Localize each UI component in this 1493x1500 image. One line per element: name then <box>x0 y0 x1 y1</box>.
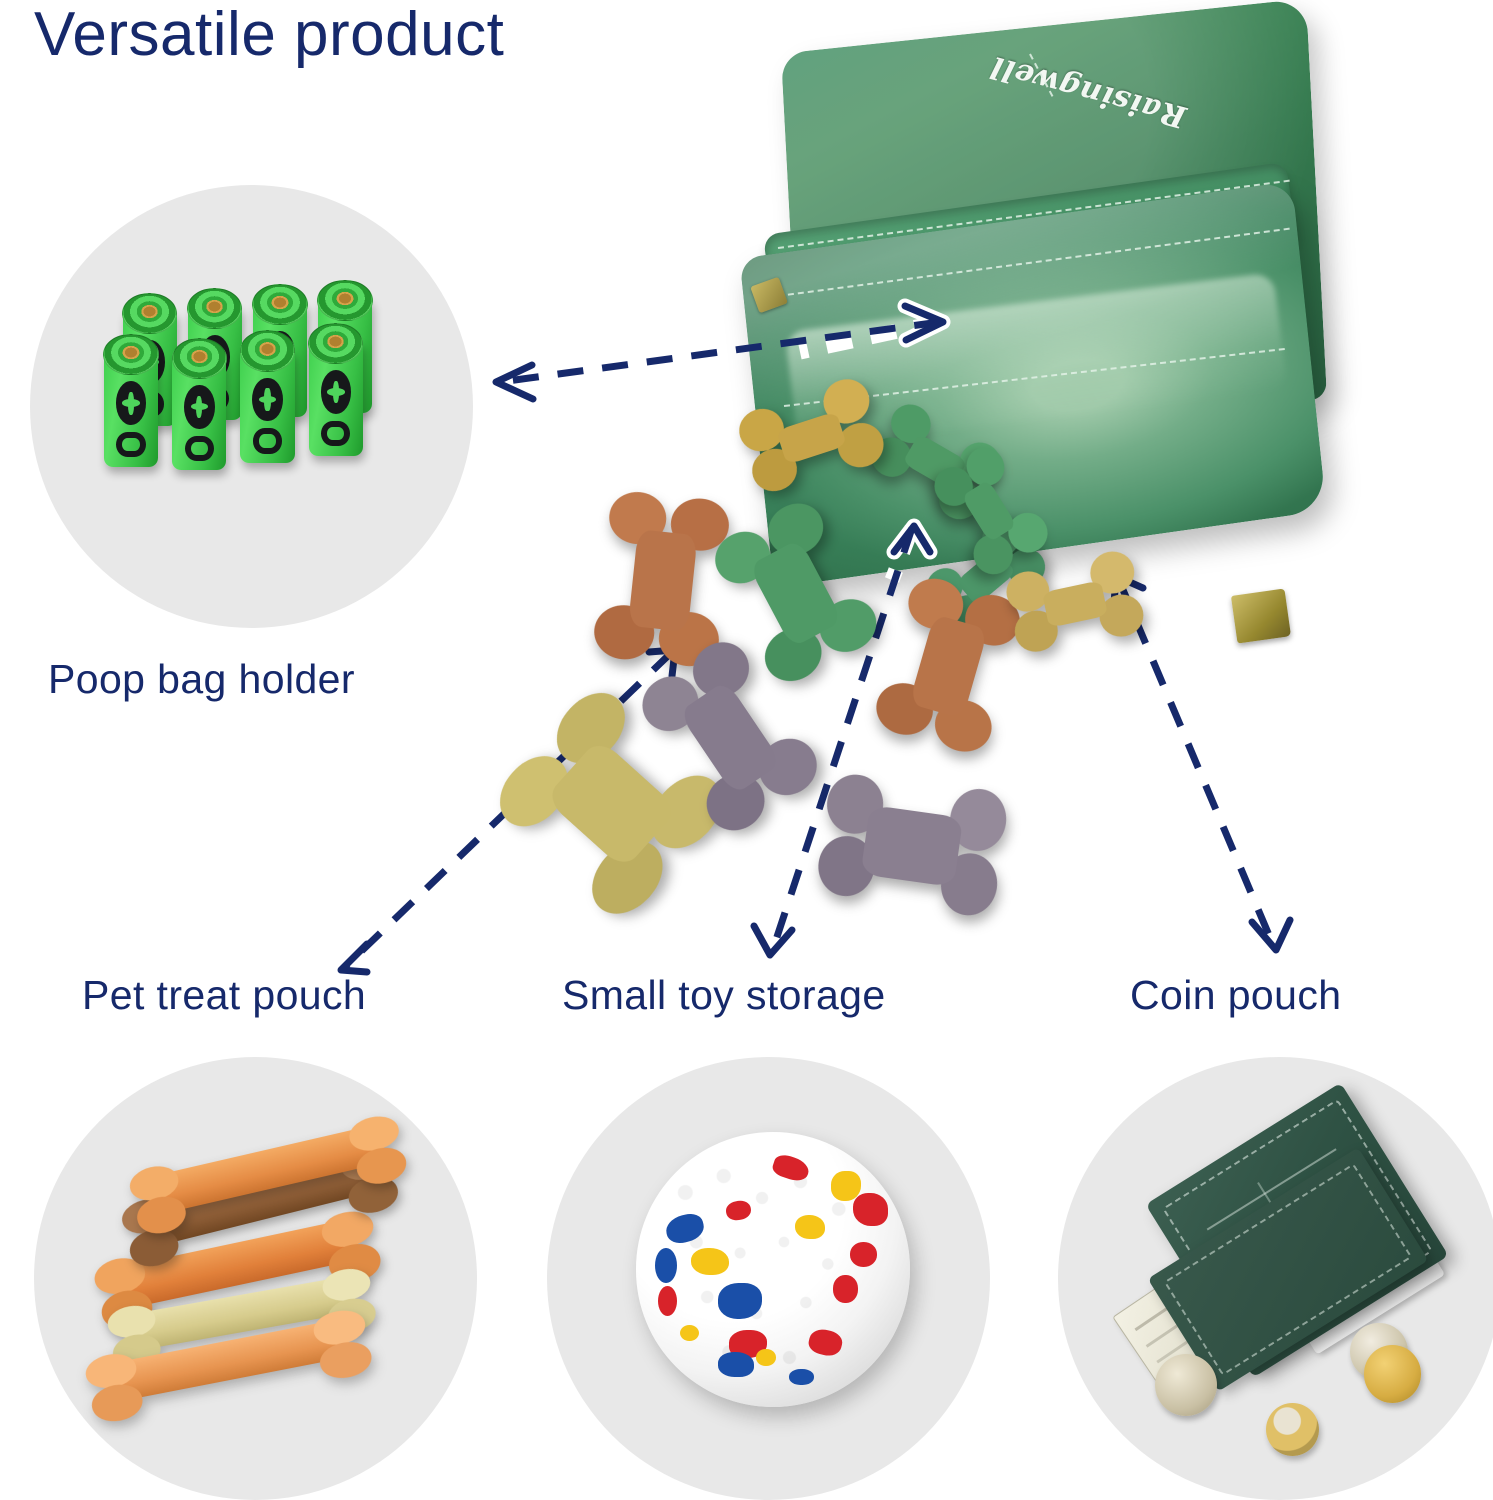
thumb-coin-pouch <box>1058 1057 1493 1500</box>
bone-print-icon <box>321 370 351 414</box>
bone-print-icon <box>252 378 282 422</box>
ball-patch-red <box>833 1275 858 1302</box>
bone-print-icon <box>253 428 282 453</box>
poop-bag-rolls-image <box>30 185 473 628</box>
bead-texture <box>636 1132 911 1407</box>
leather-wallet-with-cash-and-coins-image <box>1058 1057 1493 1500</box>
roll-core <box>240 330 295 371</box>
ball-patch-blue <box>718 1283 762 1319</box>
bag-roll <box>309 340 363 455</box>
roll-core <box>172 338 227 379</box>
caption-small-toy-storage: Small toy storage <box>562 972 886 1019</box>
coin-bimetal <box>1266 1403 1319 1456</box>
dog-treat-bone <box>814 768 1010 922</box>
caption-poop-bag-holder: Poop bag holder <box>48 656 355 703</box>
bag-roll <box>104 351 158 466</box>
ball-patch-blue <box>789 1369 814 1385</box>
thumb-pet-treat-pouch <box>34 1057 477 1500</box>
ball-patch-yellow <box>756 1349 775 1365</box>
ball-patch-blue <box>655 1248 677 1284</box>
roll-core <box>103 334 158 375</box>
ball-patch-blue <box>718 1352 754 1377</box>
foam-bead-ball-image <box>547 1057 990 1500</box>
caption-coin-pouch: Coin pouch <box>1130 972 1341 1019</box>
roll-core <box>317 280 372 321</box>
ball-patch-red <box>853 1193 889 1226</box>
ball-patch-red <box>658 1286 677 1316</box>
pouch-snap-clasp-right <box>1231 588 1291 643</box>
bag-roll <box>172 355 226 470</box>
roll-core <box>308 323 363 364</box>
bone-print-icon <box>116 432 145 457</box>
roll-core <box>187 288 242 329</box>
infographic-canvas: Versatile product <box>0 0 1493 1500</box>
caption-pet-treat-pouch: Pet treat pouch <box>82 972 366 1019</box>
poop-bag-roll-group <box>101 318 411 504</box>
ball-patch-yellow <box>795 1215 825 1240</box>
thumb-poop-bag-holder <box>30 185 473 628</box>
rawhide-chew-bones-image <box>34 1057 477 1500</box>
thumb-small-toy-storage <box>547 1057 990 1500</box>
ball-patch-red <box>850 1242 877 1267</box>
bone-print-icon <box>184 385 214 429</box>
bone-print-icon <box>185 436 214 461</box>
coin-gold <box>1364 1345 1422 1403</box>
page-title: Versatile product <box>34 0 504 71</box>
roll-core <box>252 284 307 325</box>
coin-silver <box>1155 1354 1217 1416</box>
ball-patch-yellow <box>680 1325 699 1341</box>
roll-core <box>122 293 177 334</box>
bone-print-icon <box>116 381 146 425</box>
ball-patch-yellow <box>691 1248 729 1275</box>
bag-roll <box>240 348 294 463</box>
ball-body <box>636 1132 911 1407</box>
bone-print-icon <box>321 421 350 446</box>
